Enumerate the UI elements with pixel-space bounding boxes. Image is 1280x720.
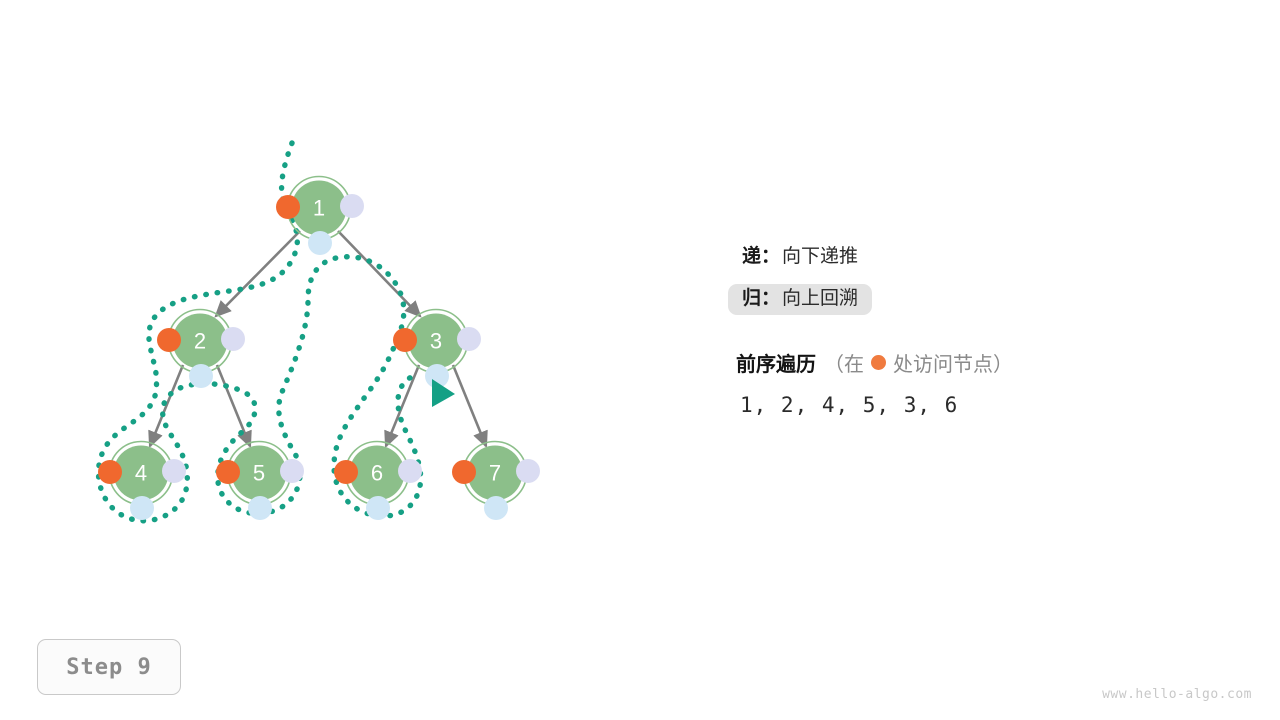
node-visit-dot	[393, 328, 417, 352]
traversal-title: 前序遍历	[736, 348, 816, 377]
node-label: 7	[489, 461, 501, 486]
traversal-note: （在 处访问节点）	[824, 348, 1013, 377]
node-right-dot	[280, 459, 304, 483]
node-visit-dot	[157, 328, 181, 352]
edge-1-2	[216, 231, 300, 316]
legend-value-return: 向上回溯	[782, 289, 858, 308]
node-right-dot	[340, 194, 364, 218]
node-right-dot	[221, 327, 245, 351]
legend-value-recurse: 向下递推	[782, 247, 858, 266]
node-bottom-dot	[189, 364, 213, 388]
node-visit-dot	[98, 460, 122, 484]
node-visit-dot	[334, 460, 358, 484]
node-visit-dot	[276, 195, 300, 219]
node-visit-dot	[216, 460, 240, 484]
info-panel: 递： 向下递推 归： 向上回溯 前序遍历 （在 处访问节点） 1, 2, 4, …	[728, 238, 1208, 417]
tree-node-3[interactable]: 3	[393, 310, 481, 389]
node-right-dot	[516, 459, 540, 483]
node-label: 5	[253, 461, 265, 486]
node-label: 2	[194, 329, 206, 354]
node-bottom-dot	[484, 496, 508, 520]
node-label: 6	[371, 461, 383, 486]
legend-chip-return: 归： 向上回溯	[728, 284, 872, 315]
tree-node-2[interactable]: 2	[157, 310, 245, 389]
edge-1-3	[338, 231, 420, 316]
tree-node-6[interactable]: 6	[334, 442, 422, 521]
traversal-sequence: 1, 2, 4, 5, 3, 6	[728, 393, 1208, 417]
node-right-dot	[457, 327, 481, 351]
legend-row-recurse: 递： 向下递推	[728, 238, 1208, 276]
node-bottom-dot	[366, 496, 390, 520]
node-right-dot	[398, 459, 422, 483]
legend-chip-recurse: 递： 向下递推	[728, 242, 872, 273]
node-label: 3	[430, 329, 442, 354]
legend-row-return: 归： 向上回溯	[728, 280, 1208, 318]
traversal-heading: 前序遍历 （在 处访问节点）	[728, 348, 1208, 377]
edge-2-5	[217, 365, 250, 446]
edge-2-4	[150, 365, 183, 446]
node-bottom-dot	[308, 231, 332, 255]
node-visit-dot	[452, 460, 476, 484]
node-bottom-dot	[130, 496, 154, 520]
node-bottom-dot	[248, 496, 272, 520]
tree-node-7[interactable]: 7	[452, 442, 540, 521]
tree-nodes: 1 2 3 4	[98, 177, 540, 521]
watermark: www.hello-algo.com	[1102, 687, 1252, 702]
node-label: 4	[135, 461, 147, 486]
step-badge: Step 9	[37, 639, 181, 695]
visit-marker-dot	[871, 355, 886, 370]
node-right-dot	[162, 459, 186, 483]
traversal-note-prefix: （在	[824, 348, 864, 377]
edge-3-7	[453, 365, 486, 446]
legend-key-recurse: 递：	[742, 247, 780, 266]
legend-key-return: 归：	[742, 289, 780, 308]
edge-3-6	[386, 365, 419, 446]
node-label: 1	[313, 196, 325, 221]
traversal-note-suffix: 处访问节点）	[893, 348, 1013, 377]
tree-node-5[interactable]: 5	[216, 442, 304, 521]
